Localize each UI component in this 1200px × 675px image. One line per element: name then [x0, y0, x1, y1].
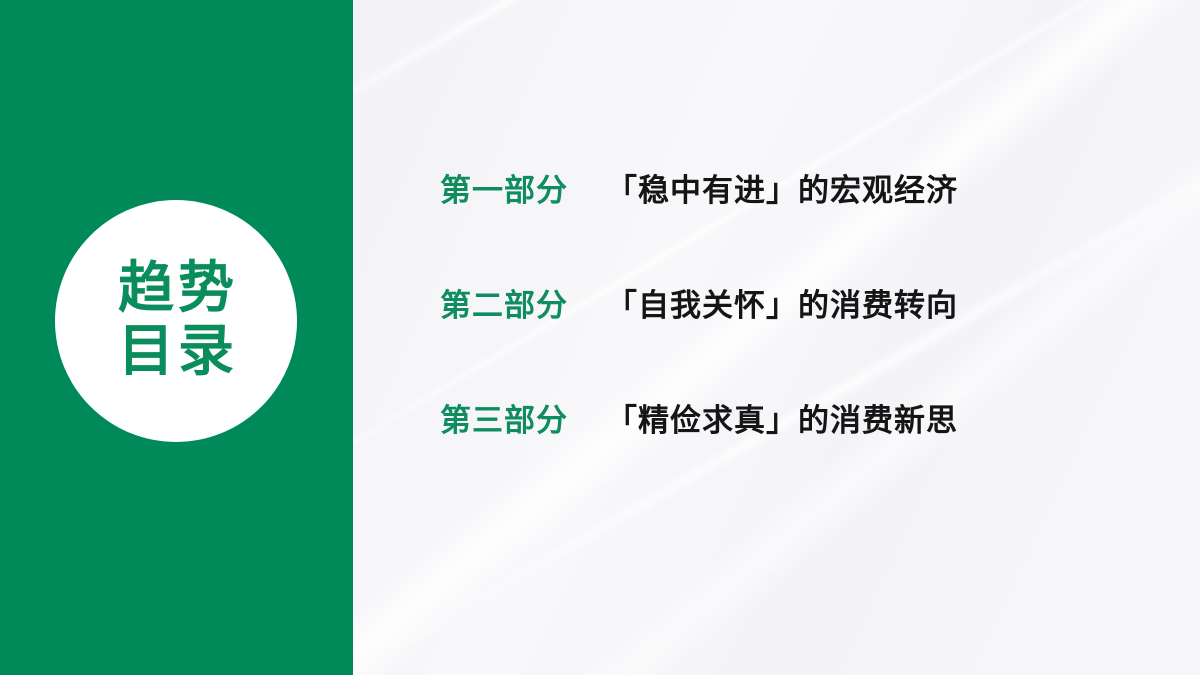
slide-root: 趋势 目录 第一部分 「稳中有进」的宏观经济 第二部分 「自我关怀」的消费转向 … [0, 0, 1200, 675]
agenda-item-index: 第二部分 [440, 280, 568, 325]
agenda-item-index: 第一部分 [440, 165, 568, 210]
brand-panel: 趋势 目录 [0, 0, 353, 675]
agenda-item-title: 「稳中有进」的宏观经济 [606, 165, 958, 210]
agenda-list: 第一部分 「稳中有进」的宏观经济 第二部分 「自我关怀」的消费转向 第三部分 「… [440, 0, 1060, 675]
agenda-item-title: 「自我关怀」的消费转向 [606, 280, 958, 325]
agenda-item-title: 「精俭求真」的消费新思 [606, 395, 958, 440]
agenda-item[interactable]: 第三部分 「精俭求真」的消费新思 [440, 395, 1060, 510]
badge-title-line-1: 趋势 [114, 258, 238, 321]
agenda-item[interactable]: 第一部分 「稳中有进」的宏观经济 [440, 165, 1060, 280]
badge-title-line-2: 目录 [114, 321, 238, 384]
trend-contents-badge: 趋势 目录 [55, 200, 297, 442]
agenda-item[interactable]: 第二部分 「自我关怀」的消费转向 [440, 280, 1060, 395]
agenda-item-index: 第三部分 [440, 395, 568, 440]
